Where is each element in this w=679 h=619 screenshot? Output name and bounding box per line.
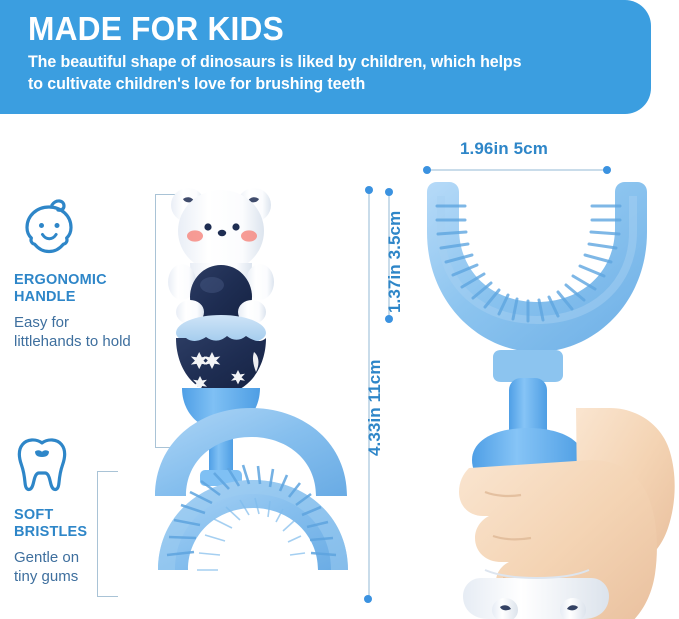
product-image-full-toothbrush [150,170,360,610]
feature-desc-line-2: littlehands to hold [14,333,131,350]
feature-desc-line-1: Gentle on [14,549,79,566]
header-banner: MADE FOR KIDS The beautiful shape of din… [0,0,651,114]
dimension-height-dot-bottom [385,315,393,323]
product-image-hand-holding-brush [405,170,679,619]
dimension-height-dot-top [385,188,393,196]
dimension-width-label: 1.96in 5cm [460,139,548,159]
dimension-length-dot-bottom [364,595,372,603]
feature-desc-line-2: tiny gums [14,568,78,585]
feature-title-line-2: BRISTLES [14,524,87,540]
feature-title-line-1: ERGONOMIC [14,272,107,288]
bracket-soft-bristles [97,471,118,597]
banner-subtitle-line-1: The beautiful shape of dinosaurs is like… [28,52,609,74]
dimension-length-dot-top [365,186,373,194]
dimension-height-label: 1.37in 3.5cm [385,211,405,313]
banner-title: MADE FOR KIDS [28,10,603,48]
feature-title-line-2: HANDLE [14,289,76,305]
feature-title-line-1: SOFT [14,507,53,523]
banner-subtitle-line-2: to cultivate children's love for brushin… [28,74,609,96]
dimension-length-label: 4.33in 11cm [365,359,385,456]
feature-desc-line-1: Easy for [14,314,69,331]
